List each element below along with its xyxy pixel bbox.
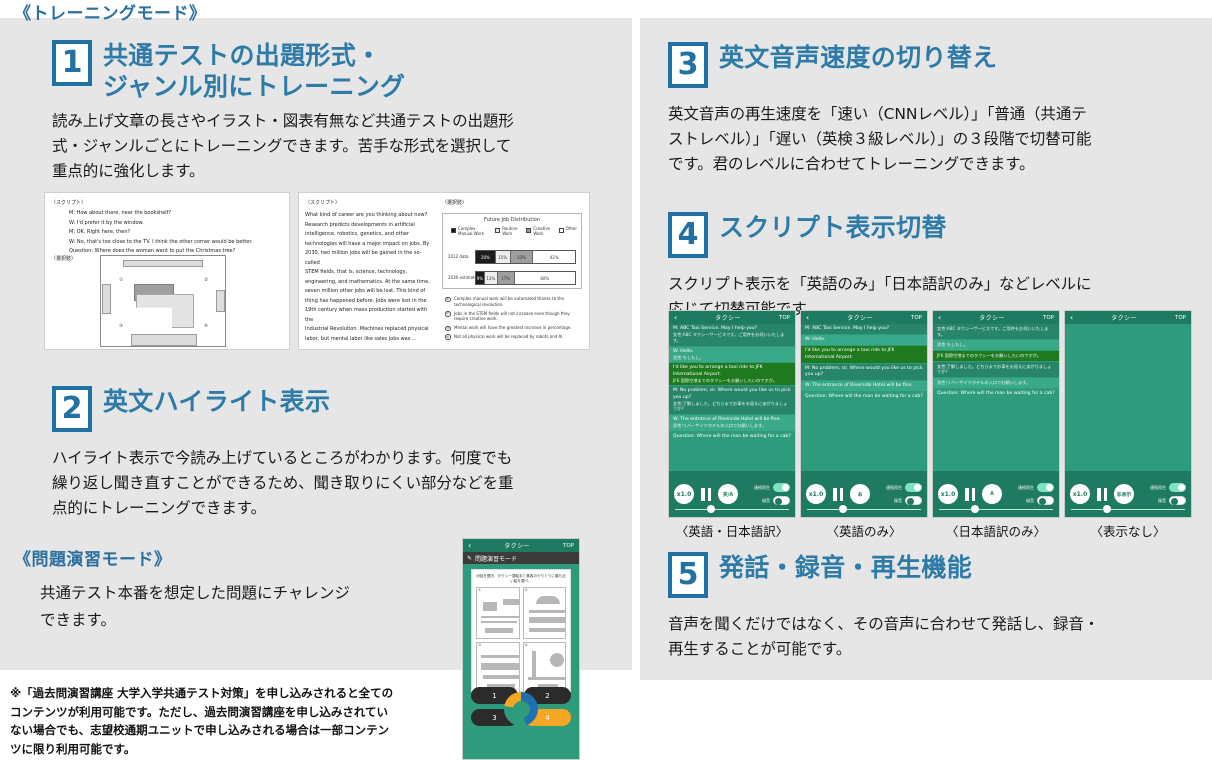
doc-right-choice-label: 〈選択肢〉: [442, 199, 467, 206]
phone-caption-2: 〈英語のみ〉: [800, 521, 928, 540]
practice-image-2-number: ②: [525, 588, 528, 592]
dialogue-line-3-highlighted: I'd like you to arrange a taxi ride to J…: [801, 346, 927, 363]
sofa-shape: [136, 294, 194, 328]
seek-knob[interactable]: [707, 505, 715, 513]
practice-mode-body: 共通テスト本番を想定した問題にチャレンジ できます。: [40, 580, 430, 633]
record-label: 録音: [894, 498, 902, 504]
script-phone-mockup-2: ‹ タクシー TOP M: ABC Taxi Service. May I he…: [800, 310, 928, 518]
phone-4-top-link[interactable]: TOP: [1175, 315, 1186, 321]
continuous-play-label: 連続再生: [754, 485, 770, 491]
dialogue-1-jp: 女性:ABC タクシーサービスです。ご用件をお伺いいたします。: [937, 326, 1055, 337]
pause-icon[interactable]: [831, 487, 845, 501]
answer-option-2: ② Jobs in the STEM fields will not incre…: [445, 311, 585, 323]
practice-phone-top-link[interactable]: TOP: [563, 543, 574, 549]
sample-script-chart: 〈スクリプト〉 What kind of career are you thin…: [298, 192, 590, 350]
practice-phone-title: タクシー: [471, 541, 563, 550]
seek-track: [1071, 509, 1185, 511]
dialogue-question: Question: Where will the man be waiting …: [669, 432, 795, 443]
phone-3-controls: x1.0 A 連続再生 録音: [933, 471, 1059, 517]
dialogue-5-jp: 男性:リバーサイドホテルの入口でお願いします。: [937, 380, 1055, 386]
answer-option-1: ① Complex manual work will be automated …: [445, 296, 585, 308]
feature-block-3: 3 英文音声速度の切り替え 英文音声の再生速度を「速い（CNNレベル）」「普通（…: [668, 42, 1196, 177]
playback-speed-button[interactable]: x1.0: [1070, 484, 1090, 504]
option-text-1: Complex manual work will be automated th…: [454, 296, 564, 307]
answer-option-4: ④ Not all physical work will be replaced…: [445, 334, 585, 340]
legend-swatch-routine: [495, 228, 500, 233]
answer-options-list: ① Complex manual work will be automated …: [445, 296, 585, 343]
poster-root: 《トレーニングモード》 1 共通テストの出題形式・ ジャンル別にトレーニング 読…: [0, 0, 1212, 760]
practice-mode-label: 問題演習モード: [475, 554, 517, 563]
training-mode-heading: 《トレーニングモード》: [14, 0, 207, 24]
phone-4-controls: x1.0 非表示 連続再生 録音: [1065, 471, 1191, 517]
legend-label-routine: Routine Work: [502, 227, 519, 236]
continuous-play-toggle-row: 連続再生: [1018, 483, 1054, 492]
feature-block-1: 1 共通テストの出題形式・ ジャンル別にトレーニング 読み上げ文章の長さやイラス…: [52, 40, 618, 184]
pencil-icon: ✎: [467, 555, 472, 562]
dialogue-line-3-highlighted: I'd like you to arrange a taxi ride to J…: [669, 363, 795, 386]
phone-2-toggle-group: 連続再生 録音: [886, 483, 922, 505]
feature-2-title: 英文ハイライト表示: [103, 386, 330, 418]
bar-seg-2030-other: 60%: [515, 272, 575, 284]
dialogue-3-jp: JFK 国際空港までのタクシーをお願いしたいのですが。: [937, 353, 1055, 359]
feature-1-body: 読み上げ文章の長さやイラスト・図表有無など共通テストの出題形 式・ジャンルごとに…: [52, 109, 618, 184]
phone-1-header: ‹ タクシー TOP: [669, 311, 795, 324]
pause-icon[interactable]: [1095, 487, 1109, 501]
seek-track: [807, 509, 921, 511]
script-phone-mockup-4: ‹ タクシー TOP x1.0 非表示 連続再生 録音: [1064, 310, 1192, 518]
chart-legend: Complex Manual Work Routine Work Creativ…: [451, 227, 577, 236]
bookshelf-shape: [131, 334, 197, 346]
feature-5-number: 5: [668, 552, 708, 598]
feature-5-head: 5 発話・録音・再生機能: [668, 552, 1196, 598]
legend-swatch-complex: [451, 228, 456, 233]
phone-1-top-link[interactable]: TOP: [779, 315, 790, 321]
record-toggle-row: 録音: [886, 496, 922, 505]
bar-seg-2030-routine: 13%: [485, 272, 498, 284]
legend-item-routine: Routine Work: [495, 227, 519, 236]
seek-knob[interactable]: [971, 505, 979, 513]
practice-image-1[interactable]: ①: [476, 587, 520, 639]
practice-answer-buttons: 1 2 3 4: [471, 687, 571, 731]
dialogue-5-en: W: The entrance of Riverside Hotel will …: [805, 383, 923, 389]
feature-2-body: ハイライト表示で今読み上げているところがわかります。何度でも 繰り返し聞き直すこ…: [52, 446, 618, 521]
bar-seg-2012-other: 42%: [533, 251, 575, 263]
continuous-play-toggle-row: 連続再生: [886, 483, 922, 492]
bar-seg-2030-complex: 9%: [476, 272, 485, 284]
chart-bar-row-2012: 20% 15% 23% 42%: [475, 250, 576, 264]
feature-3-head: 3 英文音声速度の切り替え: [668, 42, 1196, 88]
record-switch[interactable]: [1169, 496, 1186, 505]
phone-2-controls: x1.0 あ 連続再生 録音: [801, 471, 927, 517]
answer-option-3: ③ Mental work will have the greatest inc…: [445, 325, 585, 331]
legend-item-complex: Complex Manual Work: [451, 227, 488, 236]
feature-2-head: 2 英文ハイライト表示: [52, 386, 618, 432]
feature-3-number: 3: [668, 42, 708, 88]
phone-1-title: タクシー: [677, 313, 779, 322]
bar-seg-2012-complex: 20%: [476, 251, 496, 263]
dialogue-3-jp: JFK 国際空港までのタクシーをお願いしたいのですが。: [673, 378, 791, 384]
phone-3-title: タクシー: [941, 313, 1043, 322]
continuous-play-label: 連続再生: [886, 485, 902, 491]
phone-3-top-link[interactable]: TOP: [1043, 315, 1054, 321]
continuous-play-label: 連続再生: [1018, 485, 1034, 491]
dialogue-2-jp: 男性:もしもし。: [937, 342, 1055, 348]
dialogue-question-en: Question: Where will the man be waiting …: [673, 434, 791, 440]
practice-mode-heading: 《問題演習モード》: [14, 545, 172, 570]
dialogue-question-en: Question: Where will the man be waiting …: [805, 394, 923, 400]
legend-swatch-other: [559, 228, 564, 233]
script-toggle-button[interactable]: あ: [850, 484, 870, 504]
progress-ring-icon: [504, 692, 538, 726]
dialogue-line-2: 男性:もしもし。: [933, 340, 1059, 351]
record-label: 録音: [1158, 498, 1166, 504]
dialogue-line-5: W: The entrance of Riverside Hotel will …: [669, 415, 795, 432]
continuous-play-toggle-row: 連続再生: [754, 483, 790, 492]
phone-caption-4: 〈表示なし〉: [1064, 521, 1192, 540]
footnote-text: ※「過去問演習講座 大学入学共通テスト対策」を申し込みされると全ての コンテンツ…: [10, 684, 465, 759]
feature-2-number: 2: [52, 386, 92, 432]
continuous-play-label: 連続再生: [1150, 485, 1166, 491]
dialogue-line-1: M: ABC Taxi Service. May I help you?: [801, 324, 927, 335]
seek-knob[interactable]: [839, 505, 847, 513]
seek-bar[interactable]: [939, 505, 1053, 513]
continuous-play-switch[interactable]: [1169, 483, 1186, 492]
feature-5-title: 発話・録音・再生機能: [719, 552, 972, 584]
feature-1-head: 1 共通テストの出題形式・ ジャンル別にトレーニング: [52, 40, 618, 102]
practice-question-text: 対話を聞き、タクシー運転手と乗客のやりとりに最も近い絵を選べ。: [476, 574, 566, 584]
seek-bar[interactable]: [1071, 505, 1185, 513]
practice-mode-bar: ✎ 問題演習モード: [463, 552, 579, 564]
doc-right-script-text: What kind of career are you thinking abo…: [305, 211, 435, 344]
option-marker-4: ④: [445, 334, 451, 340]
legend-label-other: Other: [566, 227, 577, 236]
room-number-4: ④: [204, 324, 208, 329]
room-number-2: ②: [204, 278, 208, 283]
dialogue-line-4: M: No problem, sir. Where would you like…: [669, 386, 795, 415]
dialogue-1-en: M: ABC Taxi Service. May I help you?: [805, 326, 923, 332]
dialogue-3-en: I'd like you to arrange a taxi ride to J…: [805, 348, 923, 360]
dialogue-1-jp: 女性:ABC タクシーサービスです。ご用件をお伺いいたします。: [673, 332, 791, 343]
dialogue-line-2: W: Hello.: [801, 335, 927, 346]
feature-1-number: 1: [52, 40, 92, 86]
playback-speed-button[interactable]: x1.0: [674, 484, 694, 504]
continuous-play-toggle-row: 連続再生: [1150, 483, 1186, 492]
practice-image-4-number: ④: [525, 643, 528, 647]
legend-swatch-creative: [526, 228, 531, 233]
phone-caption-3: 〈日本語訳のみ〉: [932, 521, 1060, 540]
feature-5-body: 音声を聞くだけではなく、その音声に合わせて発話し、録音・ 再生することが可能です…: [668, 612, 1196, 662]
doc-right-script-label: 〈スクリプト〉: [305, 199, 340, 206]
phone-caption-1: 〈英語・日本語訳〉: [668, 521, 796, 540]
seek-track: [675, 509, 789, 511]
bar-seg-2012-creative: 23%: [511, 251, 534, 263]
script-toggle-button[interactable]: 非表示: [1114, 484, 1134, 504]
option-text-2: Jobs in the STEM fields will not increas…: [454, 311, 570, 322]
dialogue-line-4: 女性:了解しました。どちらまでお車をお迎えにあがりましょうか?: [933, 362, 1059, 378]
dialogue-line-1: M: ABC Taxi Service. May I help you? 女性:…: [669, 324, 795, 347]
record-label: 録音: [1026, 498, 1034, 504]
dialogue-2-en: W: Hello.: [805, 337, 923, 343]
bar-seg-2030-creative: 17%: [498, 272, 515, 284]
dialogue-3-en: I'd like you to arrange a taxi ride to J…: [673, 365, 791, 377]
doc-left-script-text: M: How about there, near the bookshelf? …: [69, 209, 287, 257]
phone-3-header: ‹ タクシー TOP: [933, 311, 1059, 324]
record-label: 録音: [762, 498, 770, 504]
feature-3-body: 英文音声の再生速度を「速い（CNNレベル）」「普通（共通テ ストレベル）」「遅い…: [668, 102, 1196, 177]
dialogue-question: Question: Where will the man be waiting …: [801, 392, 927, 403]
option-text-4: Not all physical work will be replaced b…: [454, 334, 564, 339]
dialogue-5-jp: 男性:リバーサイドホテルの入口でお願いします。: [673, 423, 791, 429]
doc-left-choice-label: 〈選択肢〉: [51, 255, 76, 262]
dialogue-line-5: 男性:リバーサイドホテルの入口でお願いします。: [933, 378, 1059, 389]
phone-4-header: ‹ タクシー TOP: [1065, 311, 1191, 324]
phone-2-top-link[interactable]: TOP: [911, 315, 922, 321]
room-number-1: ①: [119, 278, 123, 283]
feature-block-4: 4 スクリプト表示切替 スクリプト表示を「英語のみ」「日本語訳のみ」などレベルに…: [668, 212, 1196, 322]
script-toggle-button[interactable]: 英/A: [718, 484, 738, 504]
record-toggle-row: 録音: [754, 496, 790, 505]
practice-image-1-number: ①: [478, 588, 481, 592]
phone-1-toggle-group: 連続再生 録音: [754, 483, 790, 505]
feature-block-5: 5 発話・録音・再生機能 音声を聞くだけではなく、その音声に合わせて発話し、録音…: [668, 552, 1196, 662]
dialogue-line-1: 女性:ABC タクシーサービスです。ご用件をお伺いいたします。: [933, 324, 1059, 340]
playback-speed-button[interactable]: x1.0: [938, 484, 958, 504]
record-toggle-row: 録音: [1150, 496, 1186, 505]
practice-mode-phone-mockup: ‹ タクシー TOP ✎ 問題演習モード 対話を聞き、タクシー運転手と乗客のやり…: [462, 538, 580, 760]
phone-4-title: タクシー: [1073, 313, 1175, 322]
option-marker-1: ①: [445, 297, 451, 303]
seek-knob[interactable]: [1103, 505, 1111, 513]
chart-row-label-2012: 2012 data: [448, 254, 468, 259]
seek-track: [939, 509, 1053, 511]
chart-row-label-2030: 2030 estimate: [448, 275, 477, 280]
record-toggle-row: 録音: [1018, 496, 1054, 505]
dialogue-question: Question: Where will the man be waiting …: [933, 389, 1059, 400]
legend-label-complex: Complex Manual Work: [458, 227, 488, 236]
continuous-play-switch[interactable]: [773, 483, 790, 492]
practice-image-3-number: ③: [478, 643, 481, 647]
dialogue-line-4: M: No problem, sir. Where would you like…: [801, 364, 927, 381]
feature-4-head: 4 スクリプト表示切替: [668, 212, 1196, 258]
pause-icon[interactable]: [963, 487, 977, 501]
seek-bar[interactable]: [807, 505, 921, 513]
feature-4-title: スクリプト表示切替: [719, 212, 947, 244]
window-shape: [123, 260, 203, 267]
practice-image-2[interactable]: ②: [523, 587, 567, 639]
practice-question-card: 対話を聞き、タクシー運転手と乗客のやりとりに最も近い絵を選べ。 ① ②: [471, 569, 571, 692]
room-number-3: ③: [119, 324, 123, 329]
dialogue-line-5: W: The entrance of Riverside Hotel will …: [801, 381, 927, 392]
phone-3-toggle-group: 連続再生 録音: [1018, 483, 1054, 505]
dialogue-question-en: Question: Where will the man be waiting …: [937, 391, 1055, 397]
option-marker-3: ③: [445, 326, 451, 332]
phone-1-controls: x1.0 英/A 連続再生 録音: [669, 471, 795, 517]
chart-bar-row-2030: 9% 13% 17% 60%: [475, 271, 576, 285]
practice-image-grid: ① ② ③: [476, 587, 566, 694]
dialogue-4-en: M: No problem, sir. Where would you like…: [673, 388, 791, 400]
future-job-distribution-chart: Future Job Distribution Complex Manual W…: [442, 213, 582, 289]
dialogue-line-3-highlighted: JFK 国際空港までのタクシーをお願いしたいのですが。: [933, 351, 1059, 362]
dialogue-line-2: W: Hello. 男性:もしもし。: [669, 347, 795, 364]
legend-item-other: Other: [559, 227, 577, 236]
record-switch[interactable]: [773, 496, 790, 505]
left-wall-shape: [102, 284, 111, 314]
script-toggle-button[interactable]: A: [982, 484, 1002, 504]
dialogue-4-jp: 女性:了解しました。どちらまでお車をお迎えにあがりましょうか?: [937, 364, 1055, 375]
practice-phone-header: ‹ タクシー TOP: [463, 539, 579, 552]
legend-item-creative: Creative Work: [526, 227, 551, 236]
script-phone-mockup-1: ‹ タクシー TOP M: ABC Taxi Service. May I he…: [668, 310, 796, 518]
pause-icon[interactable]: [699, 487, 713, 501]
room-diagram: ① ② ③ ④: [100, 255, 226, 347]
dialogue-4-en: M: No problem, sir. Where would you like…: [805, 366, 923, 378]
phone-4-toggle-group: 連続再生 録音: [1150, 483, 1186, 505]
dialogue-2-jp: 男性:もしもし。: [673, 355, 791, 361]
record-switch[interactable]: [905, 496, 922, 505]
feature-1-title: 共通テストの出題形式・ ジャンル別にトレーニング: [103, 40, 405, 102]
legend-label-creative: Creative Work: [533, 227, 551, 236]
doc-left-script-label: 〈スクリプト〉: [51, 199, 86, 206]
record-switch[interactable]: [1037, 496, 1054, 505]
option-marker-2: ②: [445, 311, 451, 317]
phone-2-title: タクシー: [809, 313, 911, 322]
continuous-play-switch[interactable]: [905, 483, 922, 492]
feature-3-title: 英文音声速度の切り替え: [719, 42, 997, 74]
playback-speed-button[interactable]: x1.0: [806, 484, 826, 504]
continuous-play-switch[interactable]: [1037, 483, 1054, 492]
dialogue-4-jp: 女性:了解しました。どちらまでお車をお迎えにあがりましょうか?: [673, 401, 791, 412]
seek-bar[interactable]: [675, 505, 789, 513]
script-phone-mockup-3: ‹ タクシー TOP 女性:ABC タクシーサービスです。ご用件をお伺いいたしま…: [932, 310, 1060, 518]
phone-2-header: ‹ タクシー TOP: [801, 311, 927, 324]
chart-title: Future Job Distribution: [443, 217, 581, 223]
right-wall-shape: [216, 290, 225, 312]
feature-block-2: 2 英文ハイライト表示 ハイライト表示で今読み上げているところがわかります。何度…: [52, 386, 618, 521]
bar-seg-2012-routine: 15%: [496, 251, 511, 263]
feature-4-number: 4: [668, 212, 708, 258]
sample-script-illustration: 〈スクリプト〉 M: How about there, near the boo…: [44, 192, 290, 350]
option-text-3: Mental work will have the greatest incre…: [454, 325, 572, 330]
